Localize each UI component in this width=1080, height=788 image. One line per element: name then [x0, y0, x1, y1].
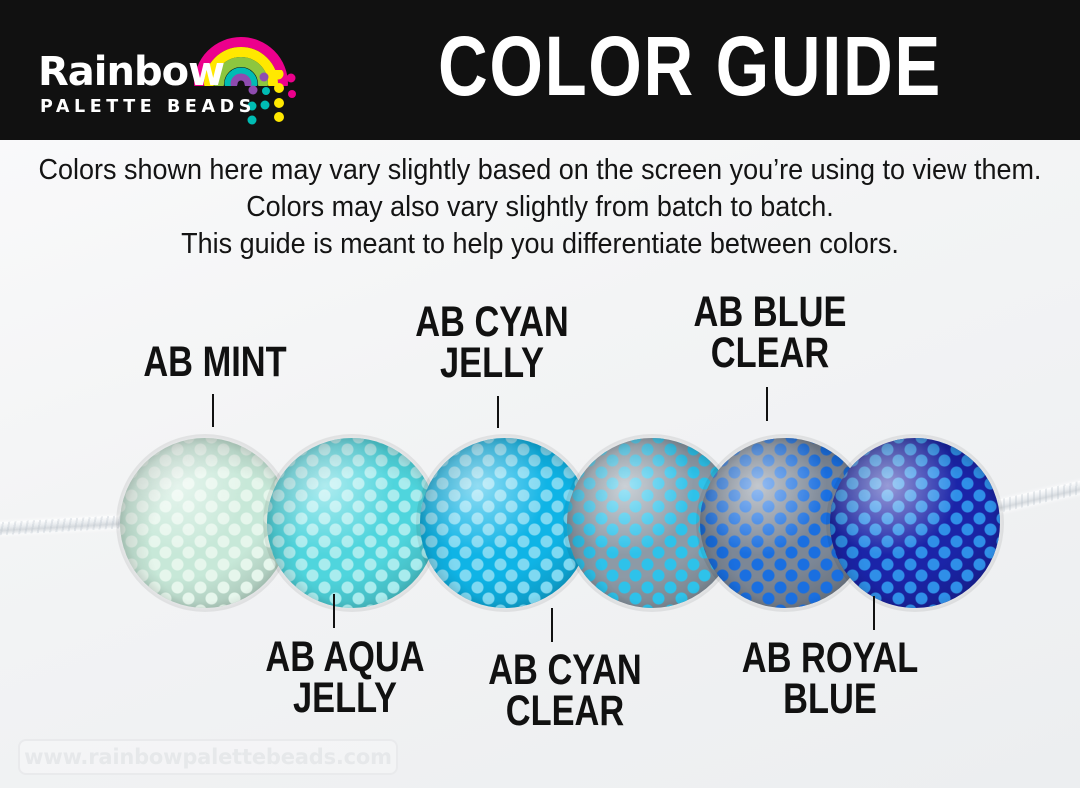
- header-bar: Rainbow PALETTE BEADS COLOR GUIDE: [0, 0, 1080, 140]
- bead-ab-aqua-jelly: [267, 438, 437, 608]
- leader-line-ab-royal-blue: [873, 596, 875, 630]
- leader-line-ab-blue-clear: [766, 387, 768, 421]
- bead-ab-royal-blue: [830, 438, 1000, 608]
- brand-logo: Rainbow PALETTE BEADS: [0, 0, 300, 140]
- color-guide-image: Rainbow PALETTE BEADS COLOR GUIDE Colors…: [0, 0, 1080, 788]
- disclaimer-line-3: This guide is meant to help you differen…: [38, 226, 1042, 263]
- label-ab-cyan-clear: AB CYAN CLEAR: [461, 650, 669, 732]
- leader-line-ab-cyan-jelly: [497, 396, 499, 428]
- website-url: www.rainbowpalettebeads.com: [24, 745, 392, 769]
- label-ab-cyan-jelly: AB CYAN JELLY: [388, 302, 596, 384]
- disclaimer-line-1: Colors shown here may vary slightly base…: [38, 152, 1042, 189]
- disclaimer-line-2: Colors may also vary slightly from batch…: [38, 189, 1042, 226]
- disclaimer-text: Colors shown here may vary slightly base…: [0, 152, 1080, 263]
- page-title: COLOR GUIDE: [395, 18, 985, 115]
- leader-line-ab-mint: [212, 394, 214, 427]
- label-ab-blue-clear: AB BLUE CLEAR: [666, 292, 874, 374]
- label-ab-mint: AB MINT: [115, 342, 315, 383]
- label-ab-royal-blue: AB ROYAL BLUE: [718, 638, 942, 720]
- label-ab-aqua-jelly: AB AQUA JELLY: [241, 637, 449, 719]
- bead-strand: [0, 400, 1080, 650]
- website-watermark: www.rainbowpalettebeads.com: [18, 739, 398, 775]
- brand-name: Rainbow: [38, 52, 224, 92]
- leader-line-ab-cyan-clear: [551, 608, 553, 642]
- brand-tagline: PALETTE BEADS: [40, 99, 256, 117]
- leader-line-ab-aqua-jelly: [333, 594, 335, 628]
